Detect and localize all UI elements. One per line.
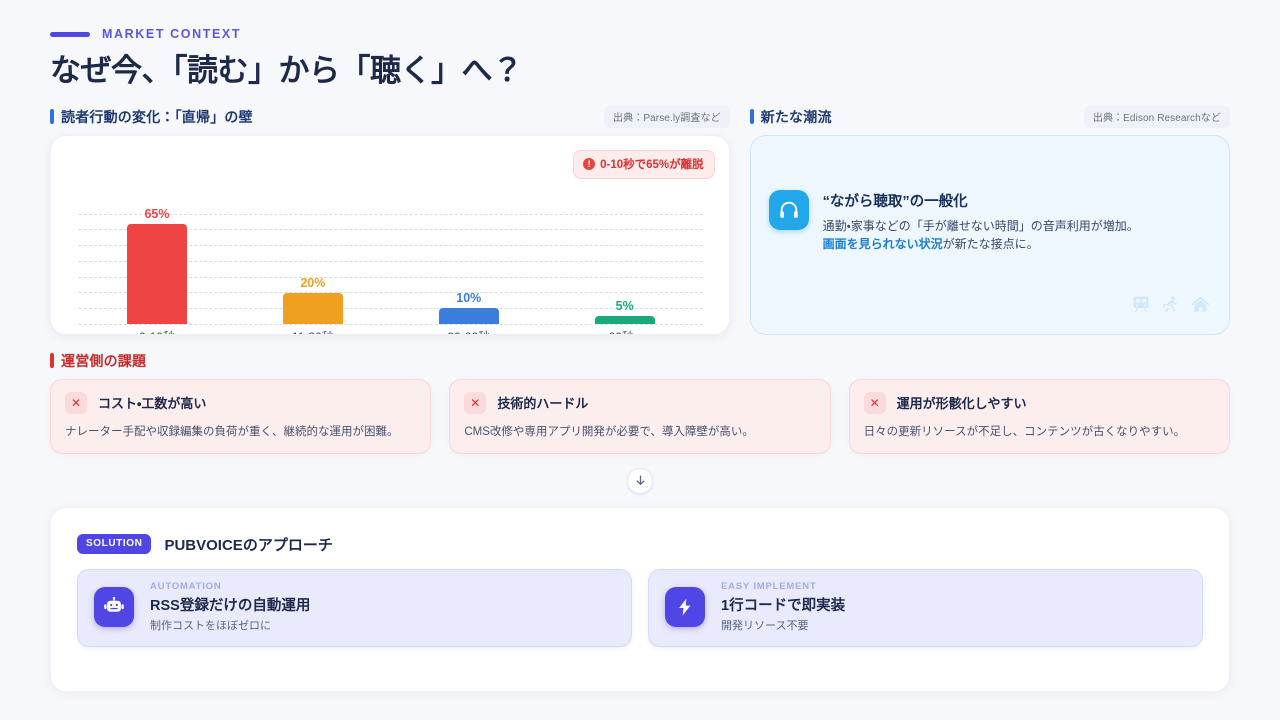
trend-source-chip: 出典：Edison Researchなど xyxy=(1084,106,1230,128)
problem-card: ✕運用が形骸化しやすい日々の更新リソースが不足し、コンテンツが古くなりやすい。 xyxy=(849,379,1230,454)
solution-badge: SOLUTION xyxy=(77,534,151,554)
chart-bar-slot: 5% xyxy=(547,214,703,324)
flow-divider xyxy=(50,468,1230,494)
chart-bar-value-label: 5% xyxy=(616,299,634,313)
section-accent-bar-icon xyxy=(750,109,754,124)
x-mark-icon: ✕ xyxy=(65,392,87,414)
eyebrow-label: MARKET CONTEXT xyxy=(102,27,241,41)
eyebrow: MARKET CONTEXT xyxy=(50,26,1230,42)
chart-x-label: 0-10秒 xyxy=(79,328,235,335)
solution-header: SOLUTION PUBVOICEのアプローチ xyxy=(77,534,1203,555)
chart-source-chip: 出典：Parse.ly調査など xyxy=(604,106,730,128)
running-person-icon xyxy=(1161,295,1180,319)
headphones-icon xyxy=(769,190,809,230)
chart-alert-badge: ! 0-10秒で65%が離脱 xyxy=(573,150,715,179)
solution-item-name: 1行コードで即実装 xyxy=(721,594,845,615)
problem-card-title: 運用が形骸化しやすい xyxy=(897,393,1027,412)
trend-body-tail: が新たな接点に。 xyxy=(943,237,1039,251)
chart-bar-value-label: 20% xyxy=(300,276,325,290)
bounce-rate-chart-card: ! 0-10秒で65%が離脱 65%20%10%5% 0-10秒11-30秒30… xyxy=(50,135,730,335)
chart-bars: 65%20%10%5% xyxy=(79,214,703,324)
solution-item-subtitle: 制作コストをほぼゼロに xyxy=(150,617,310,633)
chart-gridline xyxy=(79,324,703,325)
problem-card-title: コスト・工数が高い xyxy=(98,393,206,412)
lightning-bolt-icon xyxy=(665,587,705,627)
chart-x-label: 30-60秒 xyxy=(391,328,547,335)
trend-body-highlight: 画面を見られない状況 xyxy=(823,237,943,251)
chart-section-header: 読者行動の変化：「直帰」の壁 出典：Parse.ly調査など xyxy=(50,107,730,127)
chart-section-title: 読者行動の変化：「直帰」の壁 xyxy=(61,107,253,127)
x-mark-icon: ✕ xyxy=(464,392,486,414)
problem-card-title: 技術的ハードル xyxy=(497,393,588,412)
solution-item[interactable]: AUTOMATIONRSS登録だけの自動運用制作コストをほぼゼロに xyxy=(77,569,632,647)
solution-item-name: RSS登録だけの自動運用 xyxy=(150,594,310,615)
problems-section-header: 運営側の課題 xyxy=(50,351,1230,371)
chart-x-label: 11-30秒 xyxy=(235,328,391,335)
solution-title: PUBVOICEのアプローチ xyxy=(164,534,332,555)
solution-item-kicker: AUTOMATION xyxy=(150,581,310,592)
chart-bar-value-label: 10% xyxy=(456,291,481,305)
trend-column: 新たな潮流 出典：Edison Researchなど “ながら聴取”の一般化 xyxy=(750,107,1230,335)
chart-column: 読者行動の変化：「直帰」の壁 出典：Parse.ly調査など ! 0-10秒で6… xyxy=(50,107,730,335)
problem-card-description: ナレーター手配や収録編集の負荷が重く、継続的な運用が困難。 xyxy=(65,424,416,440)
trend-decor-icons xyxy=(1131,294,1211,320)
trend-section-title: 新たな潮流 xyxy=(761,107,832,127)
chart-bar[interactable] xyxy=(439,308,499,323)
x-mark-icon: ✕ xyxy=(864,392,886,414)
problem-card-list: ✕コスト・工数が高いナレーター手配や収録編集の負荷が重く、継続的な運用が困難。✕… xyxy=(50,379,1230,454)
chart-bar[interactable] xyxy=(127,224,187,323)
solution-item[interactable]: EASY IMPLEMENT1行コードで即実装開発リソース不要 xyxy=(648,569,1203,647)
solution-item-list: AUTOMATIONRSS登録だけの自動運用制作コストをほぼゼロにEASY IM… xyxy=(77,569,1203,647)
slide-root: MARKET CONTEXT なぜ今、「読む」から「聴く」へ？ 読者行動の変化：… xyxy=(0,0,1280,720)
solution-item-kicker: EASY IMPLEMENT xyxy=(721,581,845,592)
problem-card: ✕技術的ハードルCMS改修や専用アプリ開発が必要で、導入障壁が高い。 xyxy=(449,379,830,454)
trend-card: “ながら聴取”の一般化 通勤・家事などの「手が離せない時間」の音声利用が増加。 … xyxy=(750,135,1230,335)
chart-bar-slot: 20% xyxy=(235,214,391,324)
robot-icon xyxy=(94,587,134,627)
chart-plot-area: 65%20%10%5% 0-10秒11-30秒30-60秒60秒+ xyxy=(79,214,703,326)
trend-body-line1: 通勤・家事などの「手が離せない時間」の音声利用が増加。 xyxy=(823,219,1139,233)
chart-bar[interactable] xyxy=(283,293,343,324)
chart-x-axis-labels: 0-10秒11-30秒30-60秒60秒+ xyxy=(79,328,703,335)
solution-item-subtitle: 開発リソース不要 xyxy=(721,617,845,633)
trend-section-header: 新たな潮流 出典：Edison Researchなど xyxy=(750,107,1230,127)
section-accent-bar-icon xyxy=(50,109,54,124)
train-icon xyxy=(1131,294,1151,319)
house-icon xyxy=(1190,294,1211,320)
chart-bar-slot: 10% xyxy=(391,214,547,324)
problem-card-description: 日々の更新リソースが不足し、コンテンツが古くなりやすい。 xyxy=(864,424,1215,440)
problems-section-title: 運営側の課題 xyxy=(61,351,146,371)
section-accent-bar-icon xyxy=(50,353,54,368)
solution-card: SOLUTION PUBVOICEのアプローチ AUTOMATIONRSS登録だ… xyxy=(50,507,1230,692)
trend-card-title: “ながら聴取”の一般化 xyxy=(823,190,1139,211)
problem-card-description: CMS改修や専用アプリ開発が必要で、導入障壁が高い。 xyxy=(464,424,815,440)
chart-bar-value-label: 65% xyxy=(144,207,169,221)
page-title: なぜ今、「読む」から「聴く」へ？ xyxy=(50,52,1230,91)
alert-icon: ! xyxy=(583,158,595,170)
top-columns: 読者行動の変化：「直帰」の壁 出典：Parse.ly調査など ! 0-10秒で6… xyxy=(50,107,1230,335)
chart-x-label: 60秒+ xyxy=(547,328,703,335)
eyebrow-dash-icon xyxy=(50,32,90,37)
chart-bar-slot: 65% xyxy=(79,214,235,324)
trend-card-body: 通勤・家事などの「手が離せない時間」の音声利用が増加。 画面を見られない状況が新… xyxy=(823,217,1139,254)
problem-card: ✕コスト・工数が高いナレーター手配や収録編集の負荷が重く、継続的な運用が困難。 xyxy=(50,379,431,454)
chart-alert-text: 0-10秒で65%が離脱 xyxy=(600,156,704,172)
arrow-down-icon xyxy=(627,468,653,494)
chart-bar[interactable] xyxy=(595,316,655,324)
